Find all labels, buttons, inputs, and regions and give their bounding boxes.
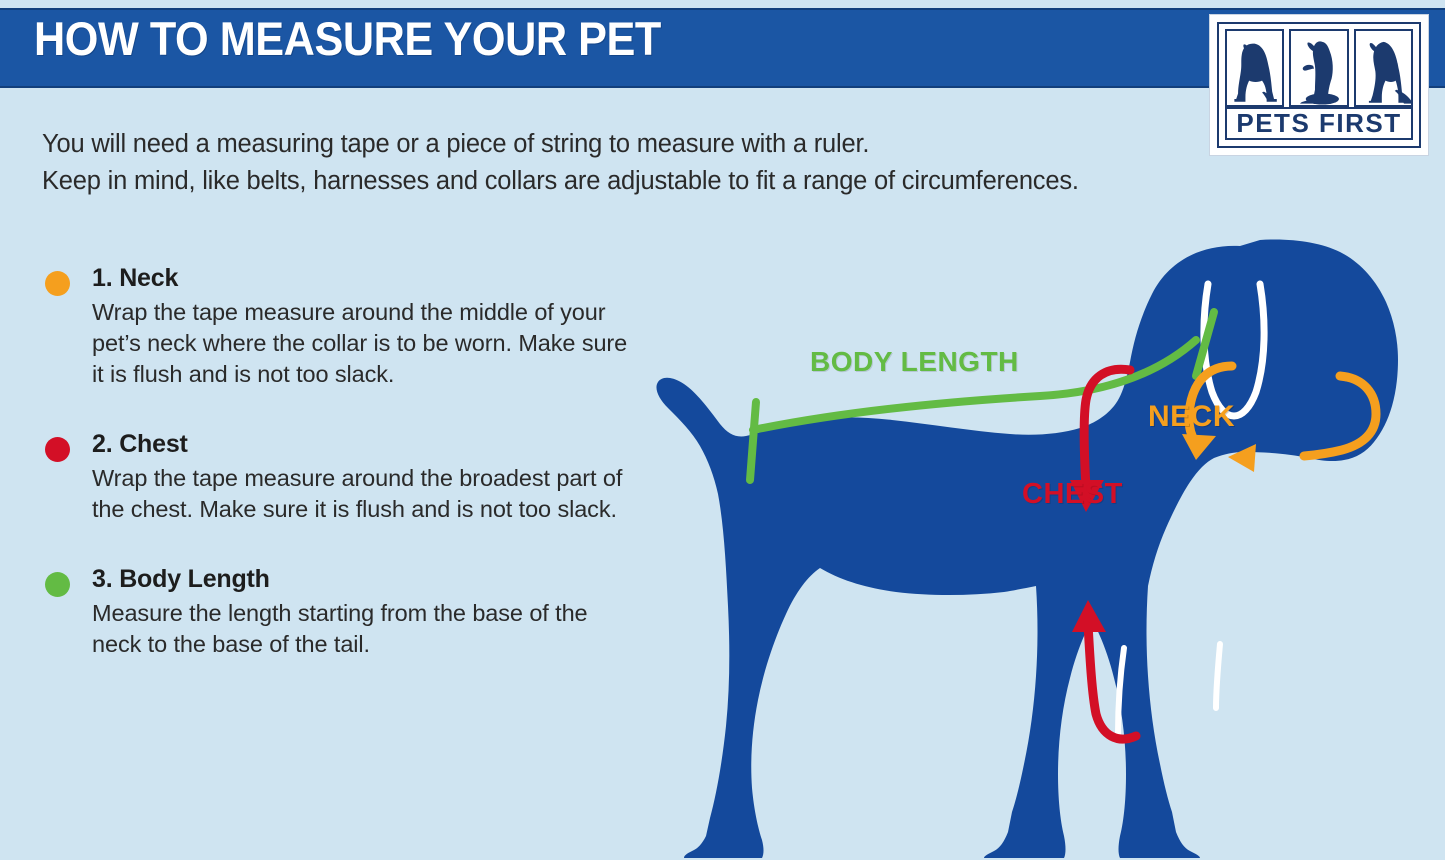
- dog-rear-leg-line: [1216, 644, 1220, 708]
- step-title-chest: 2. Chest: [92, 428, 642, 460]
- logo-wordmark: PETS FIRST: [1225, 107, 1413, 140]
- dog-measurement-diagram: [640, 236, 1440, 860]
- infographic-page: HOW TO MEASURE YOUR PET: [0, 0, 1445, 860]
- label-body-length: BODY LENGTH: [810, 346, 1019, 378]
- intro-line-1: You will need a measuring tape or a piec…: [42, 126, 1192, 163]
- page-title: HOW TO MEASURE YOUR PET: [34, 12, 661, 66]
- step-title-neck: 1. Neck: [92, 262, 642, 294]
- step-item-chest: 2. Chest Wrap the tape measure around th…: [42, 428, 642, 525]
- dog-sitting-icon: [1225, 29, 1284, 107]
- dog-shepherd-icon: [1354, 29, 1413, 107]
- step-title-body-length: 3. Body Length: [92, 563, 642, 595]
- step-item-neck: 1. Neck Wrap the tape measure around the…: [42, 262, 642, 390]
- dog-silhouette-icon: [656, 240, 1398, 859]
- step-item-body-length: 3. Body Length Measure the length starti…: [42, 563, 642, 660]
- dog-begging-icon: [1289, 29, 1348, 107]
- logo-wordmark-text: PETS FIRST: [1236, 110, 1401, 136]
- bullet-chest-icon: [45, 437, 70, 462]
- label-neck: NECK: [1148, 400, 1235, 434]
- bullet-body-length-icon: [45, 572, 70, 597]
- brand-logo: PETS FIRST: [1209, 14, 1429, 156]
- intro-line-2: Keep in mind, like belts, harnesses and …: [42, 163, 1192, 200]
- bullet-neck-icon: [45, 271, 70, 296]
- intro-text: You will need a measuring tape or a piec…: [42, 126, 1192, 200]
- label-chest: CHEST: [1022, 478, 1123, 511]
- logo-dog-panels: [1225, 29, 1413, 107]
- step-body-neck: Wrap the tape measure around the middle …: [92, 297, 642, 390]
- logo-frame: PETS FIRST: [1217, 22, 1421, 148]
- step-body-body-length: Measure the length starting from the bas…: [92, 598, 642, 660]
- measurement-steps-list: 1. Neck Wrap the tape measure around the…: [42, 262, 642, 698]
- step-body-chest: Wrap the tape measure around the broades…: [92, 463, 642, 525]
